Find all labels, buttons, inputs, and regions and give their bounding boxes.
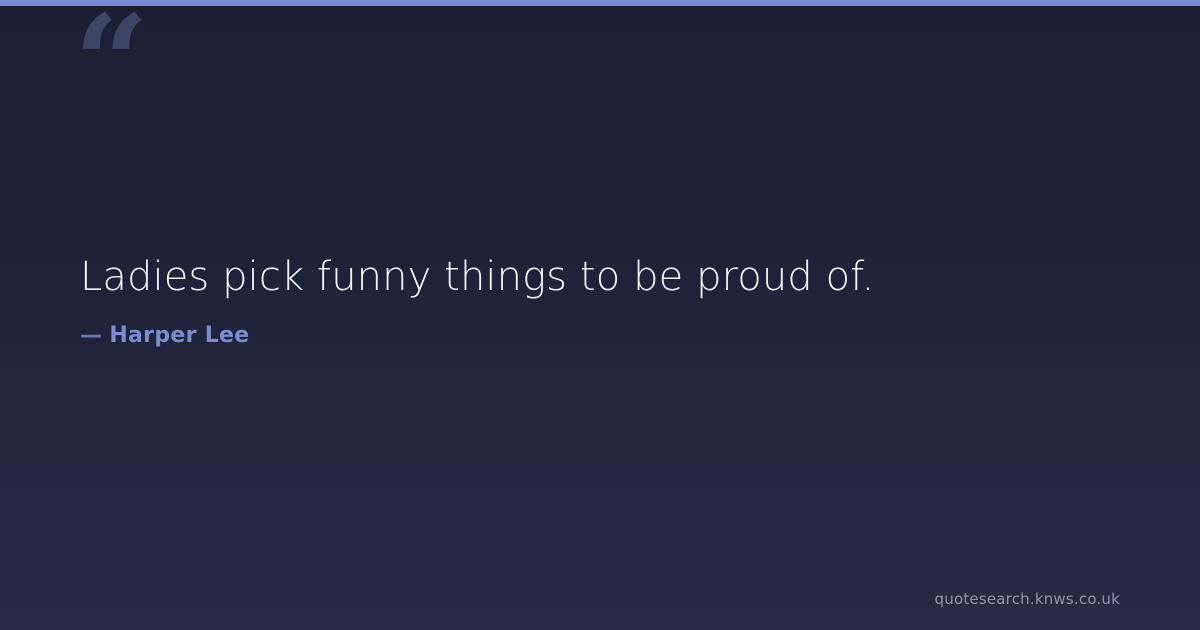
quote-text: Ladies pick funny things to be proud of. <box>80 252 1090 303</box>
attribution-dash: — <box>80 323 102 348</box>
quote-card: “ Ladies pick funny things to be proud o… <box>0 0 1200 630</box>
quote-attribution: —Harper Lee <box>80 323 1090 349</box>
quote-mark-icon: “ <box>74 0 147 128</box>
source-url-label: quotesearch.knws.co.uk <box>935 590 1120 608</box>
attribution-author: Harper Lee <box>109 323 249 348</box>
quote-content: Ladies pick funny things to be proud of.… <box>80 252 1090 350</box>
top-accent-bar <box>0 0 1200 6</box>
